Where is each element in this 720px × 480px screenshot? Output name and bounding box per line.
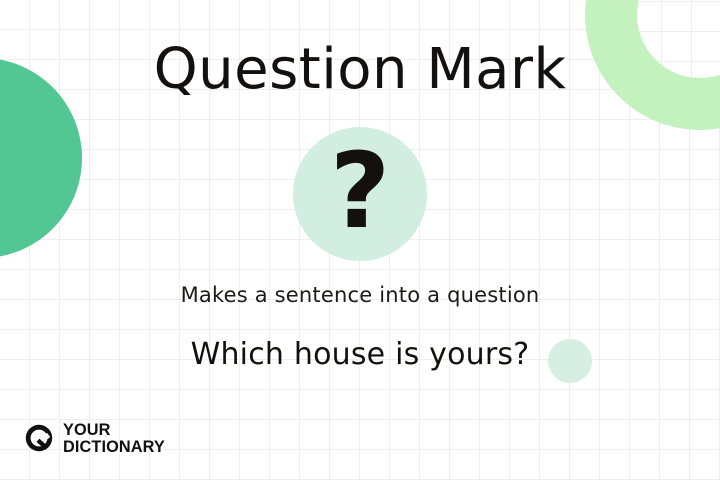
brand-logo: YOUR DICTIONARY (24, 421, 169, 456)
definition-text: Makes a sentence into a question (0, 285, 720, 306)
infographic-card: Question Mark ? Makes a sentence into a … (0, 0, 720, 480)
brand-logo-line-2: DICTIONARY (63, 438, 165, 455)
brand-logo-line-1: YOUR (63, 421, 165, 438)
page-title: Question Mark (0, 42, 720, 98)
brand-logo-wordmark: YOUR DICTIONARY (63, 421, 169, 456)
yourdictionary-ring-icon (24, 423, 54, 453)
question-mark-icon: ? (293, 127, 427, 261)
example-sentence: Which house is yours? (0, 340, 720, 370)
